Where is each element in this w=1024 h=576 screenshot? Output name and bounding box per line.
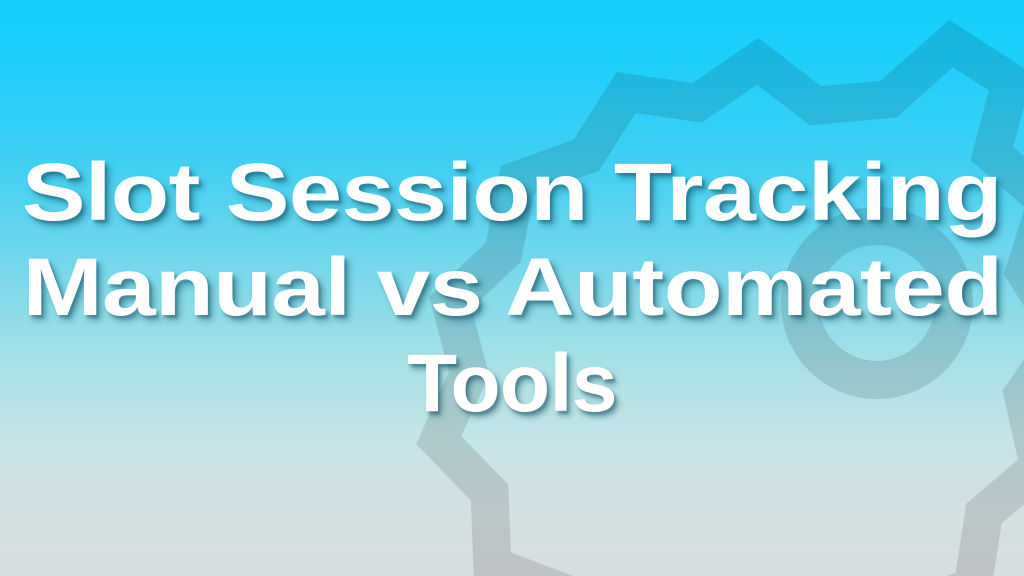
headline-line-1: Slot Session Tracking — [22, 145, 1002, 240]
headline-block: Slot Session Tracking Manual vs Automate… — [0, 0, 1024, 576]
title-card-banner: Slot Session Tracking Manual vs Automate… — [0, 0, 1024, 576]
headline-line-2: Manual vs Automated — [22, 240, 1002, 335]
headline-line-3: Tools — [407, 336, 617, 431]
